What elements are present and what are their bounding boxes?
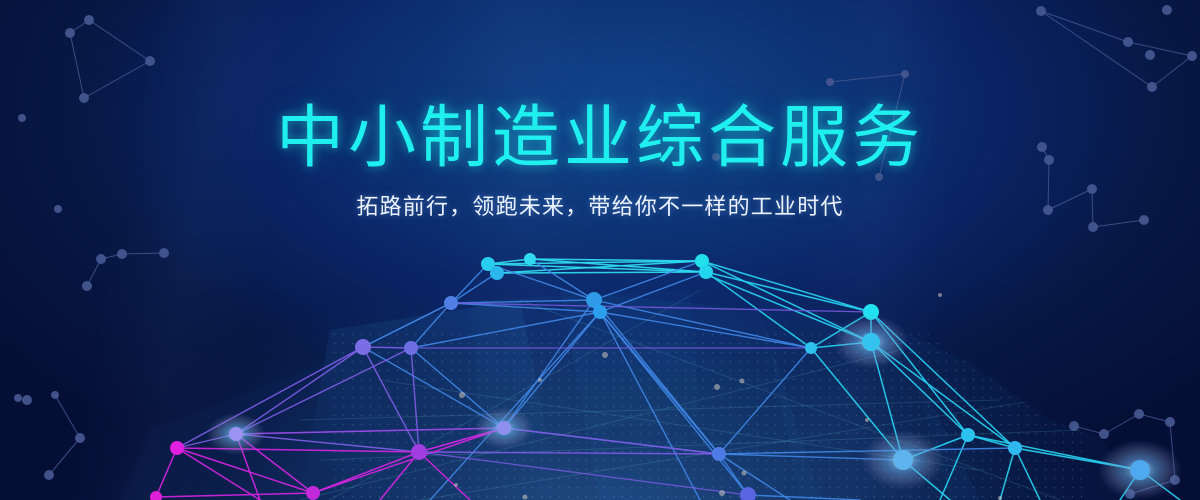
constellation-dot — [82, 281, 92, 291]
constellation-dot — [1125, 489, 1135, 499]
constellation-dot — [96, 254, 106, 264]
constellation-edge — [1128, 42, 1192, 56]
constellation-edge — [1139, 414, 1170, 422]
constellation-dot — [14, 394, 22, 402]
constellation-dot — [1123, 37, 1133, 47]
constellation-dot — [75, 433, 85, 443]
dome-node — [593, 305, 607, 319]
page-title: 中小制造业综合服务 — [0, 104, 1200, 172]
constellation-dot — [1170, 475, 1180, 485]
dome-node — [712, 447, 726, 461]
constellation-dot — [1147, 82, 1157, 92]
dome-node — [229, 427, 243, 441]
dome-node — [481, 257, 495, 271]
constellation-dot — [826, 78, 834, 86]
constellation-edge — [830, 74, 905, 82]
constellation-dot — [1099, 429, 1109, 439]
constellation-edge — [70, 33, 84, 98]
constellation-dot — [875, 173, 883, 181]
constellation-edge — [1093, 220, 1144, 227]
constellation-edge — [1048, 189, 1092, 210]
constellation-dot — [1145, 50, 1155, 60]
constellation-dot — [79, 93, 89, 103]
constellation-dot — [51, 391, 59, 399]
constellation-edge — [89, 20, 150, 61]
constellation-dot — [117, 249, 127, 259]
dome-node — [1130, 460, 1150, 480]
constellation-dot — [22, 395, 32, 405]
dome-node — [740, 487, 756, 500]
background-sheen — [0, 0, 1200, 500]
node-glow-halo — [1098, 440, 1182, 500]
constellation-edge — [84, 61, 150, 98]
node-glow-halo — [833, 315, 909, 369]
node-glow-halo — [861, 430, 945, 490]
constellation-dot — [901, 70, 909, 78]
dome-node — [404, 341, 418, 355]
dome-node — [170, 441, 184, 455]
hero-banner: 中小制造业综合服务 拓路前行，领跑未来，带给你不一样的工业时代 — [0, 0, 1200, 500]
constellation-edge — [101, 254, 122, 259]
constellation-dot — [145, 56, 155, 66]
node-glow-halo — [207, 413, 266, 455]
constellation-dot — [18, 114, 26, 122]
constellation-edge — [70, 20, 89, 33]
dome-node — [524, 253, 536, 265]
constellation-edge — [87, 259, 101, 286]
constellation-dot — [712, 153, 720, 161]
dome-node — [1008, 441, 1022, 455]
dome-node — [961, 428, 975, 442]
constellation-edge — [1152, 56, 1192, 87]
constellation-dot — [1036, 6, 1046, 16]
constellation-dot — [1134, 409, 1144, 419]
dome-node — [490, 266, 504, 280]
constellation-edge — [49, 438, 80, 475]
constellation-dot — [159, 248, 169, 258]
dome-node — [893, 450, 913, 470]
constellation-dot — [1069, 421, 1079, 431]
page-subtitle: 拓路前行，领跑未来，带给你不一样的工业时代 — [0, 196, 1200, 218]
dome-node — [695, 254, 709, 268]
dome-network-graphic — [0, 0, 1200, 500]
dome-node — [805, 342, 817, 354]
constellation-edge — [1170, 422, 1175, 480]
dome-node — [411, 444, 427, 460]
constellation-dot — [54, 205, 62, 213]
constellation-dot — [1088, 222, 1098, 232]
constellation-edge — [122, 253, 164, 254]
constellation-dot — [1165, 417, 1175, 427]
constellation-dot — [84, 15, 94, 25]
constellation-edge — [1074, 426, 1104, 434]
constellation-edge — [55, 395, 80, 438]
constellation-edge — [1042, 147, 1049, 160]
dome-node — [497, 421, 511, 435]
constellation-edge — [1092, 189, 1093, 227]
dome-node — [355, 339, 371, 355]
dome-node — [444, 296, 458, 310]
constellation-dot — [1139, 215, 1149, 225]
constellation-edge — [879, 74, 905, 177]
constellation-dot — [1187, 51, 1197, 61]
constellation-dot — [65, 28, 75, 38]
constellation-edge — [1048, 160, 1049, 210]
constellation-edge — [1041, 11, 1128, 42]
constellation-edge — [1104, 414, 1139, 434]
constellation-dot — [1043, 205, 1053, 215]
node-glow-halo — [475, 407, 534, 449]
constellation-dot — [1087, 184, 1097, 194]
dome-node — [699, 265, 713, 279]
constellation-dot — [1044, 155, 1054, 165]
dome-node — [306, 486, 320, 500]
dome-node — [150, 491, 162, 500]
constellation-background — [0, 0, 1200, 500]
constellation-dot — [1162, 5, 1172, 15]
dome-node — [586, 292, 602, 308]
constellation-dot — [44, 470, 54, 480]
constellation-dot — [1037, 142, 1047, 152]
constellation-edge — [1130, 480, 1175, 494]
constellation-edge — [1041, 11, 1152, 87]
dome-node — [863, 304, 879, 320]
dome-node — [862, 333, 880, 351]
